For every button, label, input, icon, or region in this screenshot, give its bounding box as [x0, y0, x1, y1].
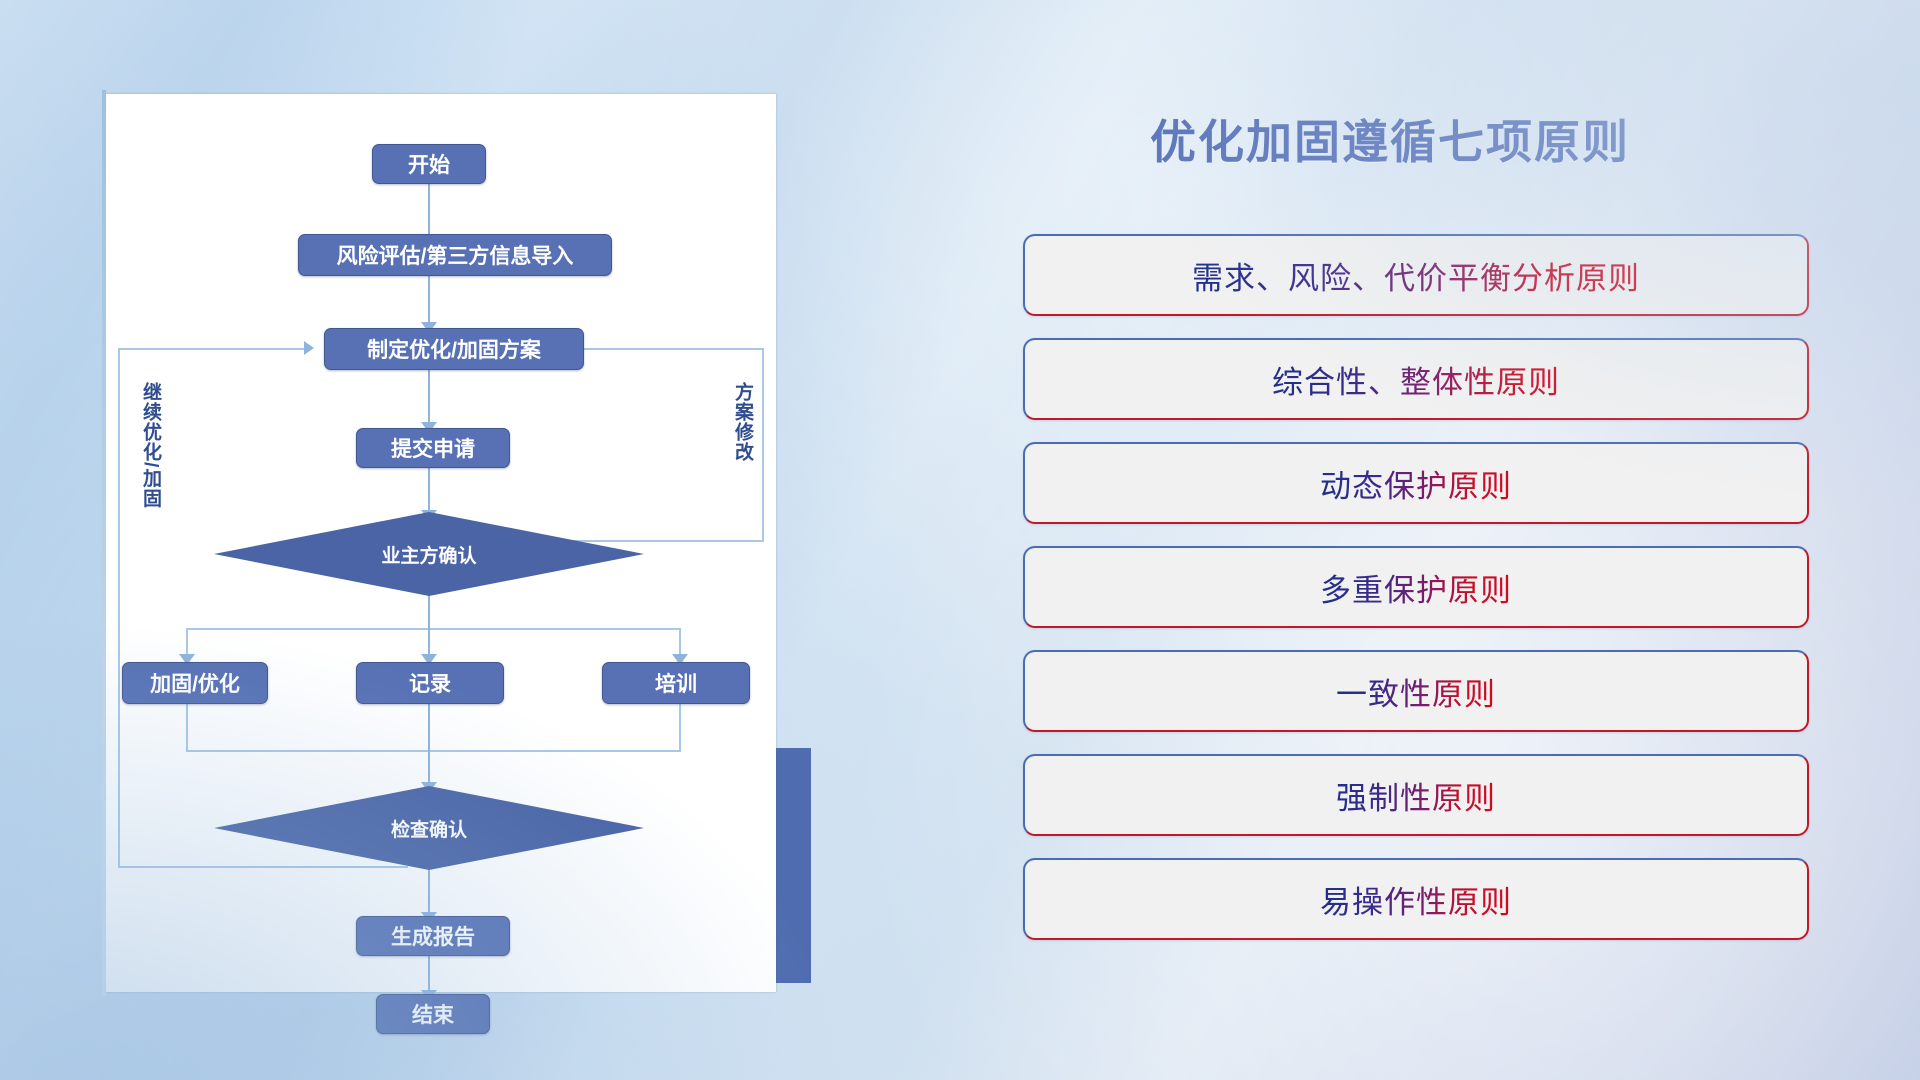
- flowchart-card: 继续优化/加固 方案修改 开始 风险评估/第三: [106, 94, 776, 992]
- edge-label-right: 方案修改: [732, 382, 752, 462]
- principle-label: 需求、风险、代价平衡分析原则: [1192, 253, 1640, 298]
- right-loop-vertical: [762, 348, 764, 540]
- conn-submit-owner: [428, 464, 430, 516]
- flow-node-start[interactable]: 开始: [372, 144, 486, 184]
- principle-card-3[interactable]: 动态保护原则: [1023, 442, 1809, 524]
- principle-label: 动态保护原则: [1320, 461, 1512, 506]
- branch-bar-top: [186, 628, 681, 630]
- conn-owner-branch: [428, 594, 430, 628]
- merge-bar: [186, 750, 681, 752]
- flow-node-plan[interactable]: 制定优化/加固方案: [324, 328, 584, 370]
- principle-card-4[interactable]: 多重保护原则: [1023, 546, 1809, 628]
- principle-card-2[interactable]: 综合性、整体性原则: [1023, 338, 1809, 420]
- principle-card-5[interactable]: 一致性原则: [1023, 650, 1809, 732]
- conn-start-risk: [428, 180, 430, 240]
- conn-record-check: [428, 702, 430, 788]
- conn-check-report: [428, 866, 430, 918]
- flow-node-report[interactable]: 生成报告: [356, 916, 510, 956]
- flow-node-owner-confirm[interactable]: 业主方确认: [214, 512, 644, 596]
- left-loop-top: [118, 348, 306, 350]
- flow-node-check-confirm[interactable]: 检查确认: [214, 786, 644, 870]
- flow-node-end[interactable]: 结束: [376, 994, 490, 1034]
- left-loop-arrow: [304, 341, 314, 355]
- principle-card-1[interactable]: 需求、风险、代价平衡分析原则: [1023, 234, 1809, 316]
- principle-label: 强制性原则: [1336, 773, 1496, 818]
- flow-node-training[interactable]: 培训: [602, 662, 750, 704]
- left-loop-vertical: [118, 348, 120, 868]
- edge-label-left: 继续优化/加固: [140, 382, 160, 508]
- conn-plan-submit: [428, 366, 430, 428]
- principle-card-6[interactable]: 强制性原则: [1023, 754, 1809, 836]
- page-title: 优化加固遵循七项原则: [1150, 106, 1630, 172]
- principle-label: 多重保护原则: [1320, 565, 1512, 610]
- principle-label: 综合性、整体性原则: [1272, 357, 1560, 402]
- principles-list: 需求、风险、代价平衡分析原则 综合性、整体性原则 动态保护原则 多重保护原则 一…: [1023, 234, 1809, 962]
- flow-node-risk-assessment[interactable]: 风险评估/第三方信息导入: [298, 234, 612, 276]
- flow-node-submit[interactable]: 提交申请: [356, 428, 510, 468]
- flow-node-reinforce[interactable]: 加固/优化: [122, 662, 268, 704]
- principle-card-7[interactable]: 易操作性原则: [1023, 858, 1809, 940]
- principle-label: 易操作性原则: [1320, 877, 1512, 922]
- merge-left-down: [186, 702, 188, 750]
- merge-right-down: [679, 702, 681, 750]
- conn-risk-plan: [428, 270, 430, 328]
- principle-label: 一致性原则: [1336, 669, 1496, 714]
- flow-node-record[interactable]: 记录: [356, 662, 504, 704]
- slide-canvas: 继续优化/加固 方案修改 开始 风险评估/第三: [0, 0, 1920, 1080]
